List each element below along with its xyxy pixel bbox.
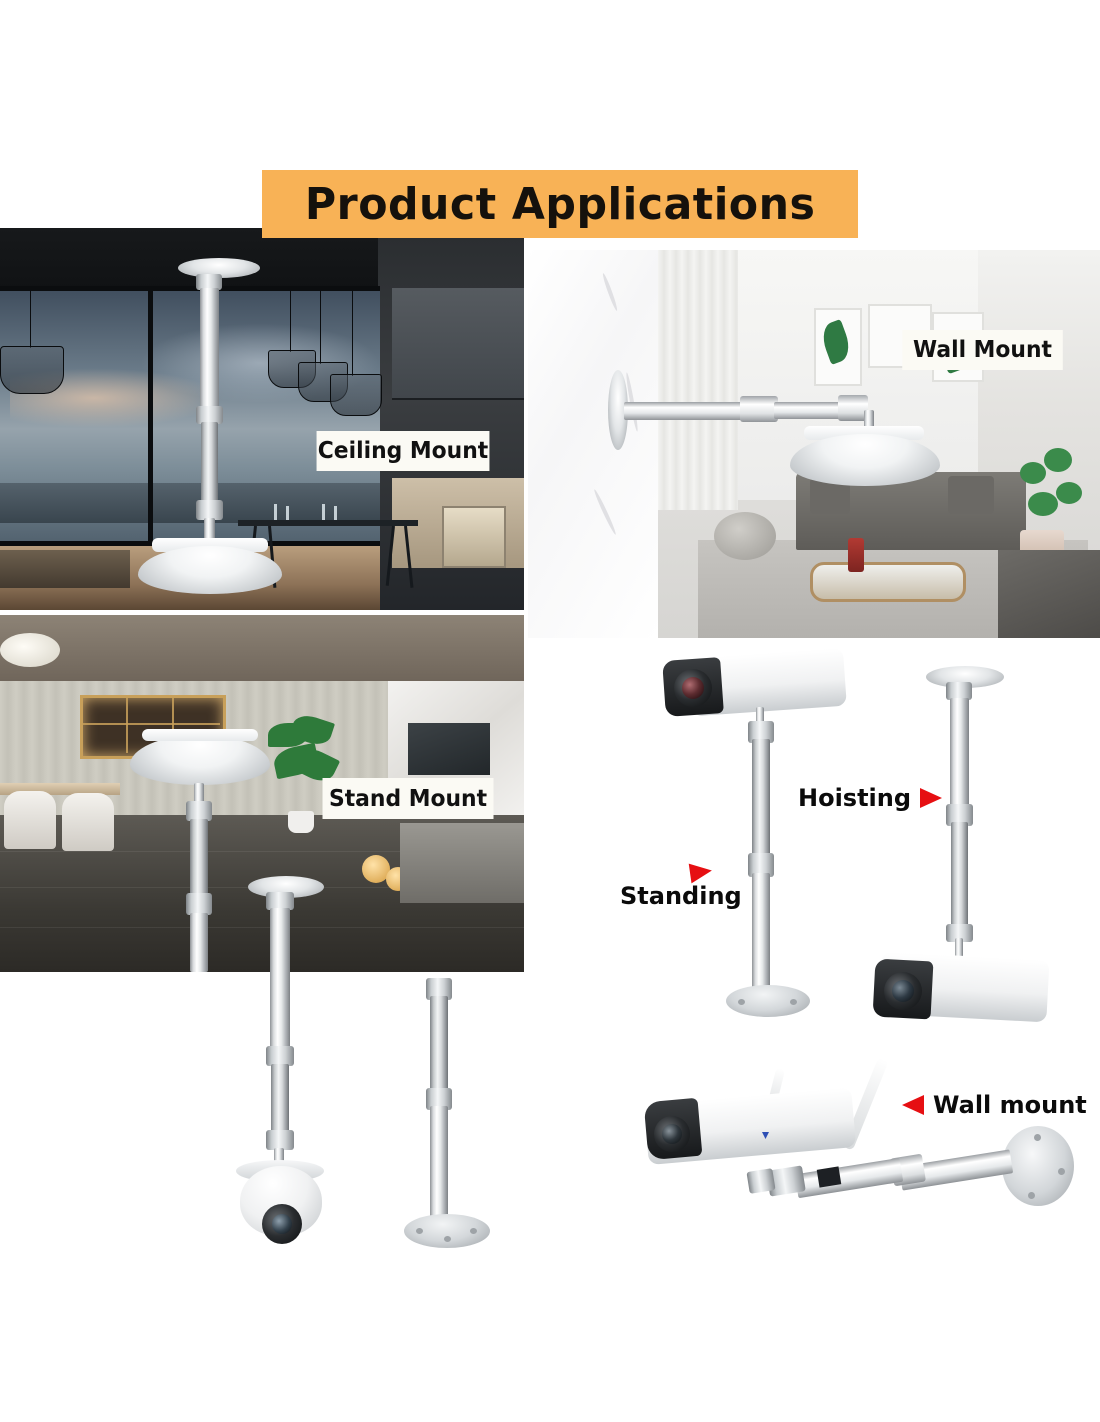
stand-pole-upper xyxy=(752,739,770,857)
drop-pole-lower xyxy=(951,822,968,928)
stand-adjuster xyxy=(186,801,212,821)
pole-adjuster xyxy=(266,1130,294,1150)
screw-hole xyxy=(1028,1192,1035,1199)
panel-wall-mount xyxy=(528,250,1100,638)
standing-camera-assembly xyxy=(650,645,870,1045)
arrow-right-icon xyxy=(920,788,942,808)
pole-upper xyxy=(430,996,448,1092)
pole-adjuster xyxy=(196,500,223,520)
arm-marker-band xyxy=(817,1166,842,1187)
pole-lower xyxy=(271,1064,289,1136)
callout-label: Hoisting xyxy=(798,784,911,812)
dome-access-point xyxy=(790,434,940,486)
drop-pole-upper xyxy=(950,698,969,808)
label-text: Wall Mount xyxy=(913,337,1052,363)
arrow-right-glyph xyxy=(689,861,714,884)
callout-wall-mount: Wall mount xyxy=(902,1091,1087,1119)
screw-hole xyxy=(1034,1134,1041,1141)
arrow-left-icon xyxy=(902,1095,924,1115)
dome-top-plate xyxy=(142,729,258,741)
label-text: Ceiling Mount xyxy=(318,438,488,464)
page-title: Product Applications xyxy=(305,179,815,230)
hoisting-camera-assembly xyxy=(880,660,1100,1060)
wall-mount-hardware xyxy=(528,250,1100,638)
product-applications-page: Product Applications xyxy=(0,0,1100,1422)
stand-pole-upper xyxy=(190,819,208,897)
wireless-camera-wall-assembly xyxy=(620,1050,1100,1290)
mount-pole-lower xyxy=(201,422,218,510)
arm-pivot xyxy=(746,1168,775,1194)
lens-glass xyxy=(892,980,914,1002)
callout-label: Wall mount xyxy=(933,1091,1087,1119)
screw-hole xyxy=(444,1236,451,1242)
wall-arm-extension xyxy=(774,402,842,419)
label-ceiling-mount: Ceiling Mount xyxy=(317,431,490,471)
lens-glass xyxy=(662,1124,682,1144)
stand-joint xyxy=(186,893,212,915)
screw-hole xyxy=(790,999,797,1005)
stand-pole-lower xyxy=(190,913,208,972)
pole-joint xyxy=(266,1046,294,1066)
stand-pole-lower xyxy=(752,873,770,993)
lens-glass xyxy=(272,1214,292,1234)
callout-hoisting: Hoisting xyxy=(798,784,942,812)
wall-arm-inner xyxy=(795,1158,903,1198)
telescoping-pole-assembly xyxy=(404,970,494,1260)
dome-access-point xyxy=(138,546,282,594)
label-wall-mount: Wall Mount xyxy=(902,330,1063,370)
mount-pole-tip xyxy=(204,518,215,540)
screw-hole xyxy=(1058,1168,1065,1175)
ceiling-pole-turret-assembly xyxy=(220,868,350,1280)
dome-access-point xyxy=(130,735,270,785)
callout-label: Standing xyxy=(620,882,742,910)
label-text: Stand Mount xyxy=(329,786,487,812)
lens-glass xyxy=(682,677,704,699)
screw-hole xyxy=(738,999,745,1005)
arm-collar xyxy=(740,396,778,422)
panel-ceiling-mount xyxy=(0,228,524,610)
pole-lower xyxy=(430,1106,448,1222)
screw-hole xyxy=(470,1228,477,1234)
screw-hole xyxy=(416,1228,423,1234)
callout-standing: Standing xyxy=(620,882,742,910)
wall-arm xyxy=(624,402,742,420)
arrow-right-icon xyxy=(689,861,714,884)
pole-upper xyxy=(270,908,290,1050)
mount-pole-upper xyxy=(200,288,219,408)
ceiling-mount-hardware xyxy=(0,228,524,610)
page-title-banner: Product Applications xyxy=(262,170,858,238)
label-stand-mount: Stand Mount xyxy=(323,778,494,819)
